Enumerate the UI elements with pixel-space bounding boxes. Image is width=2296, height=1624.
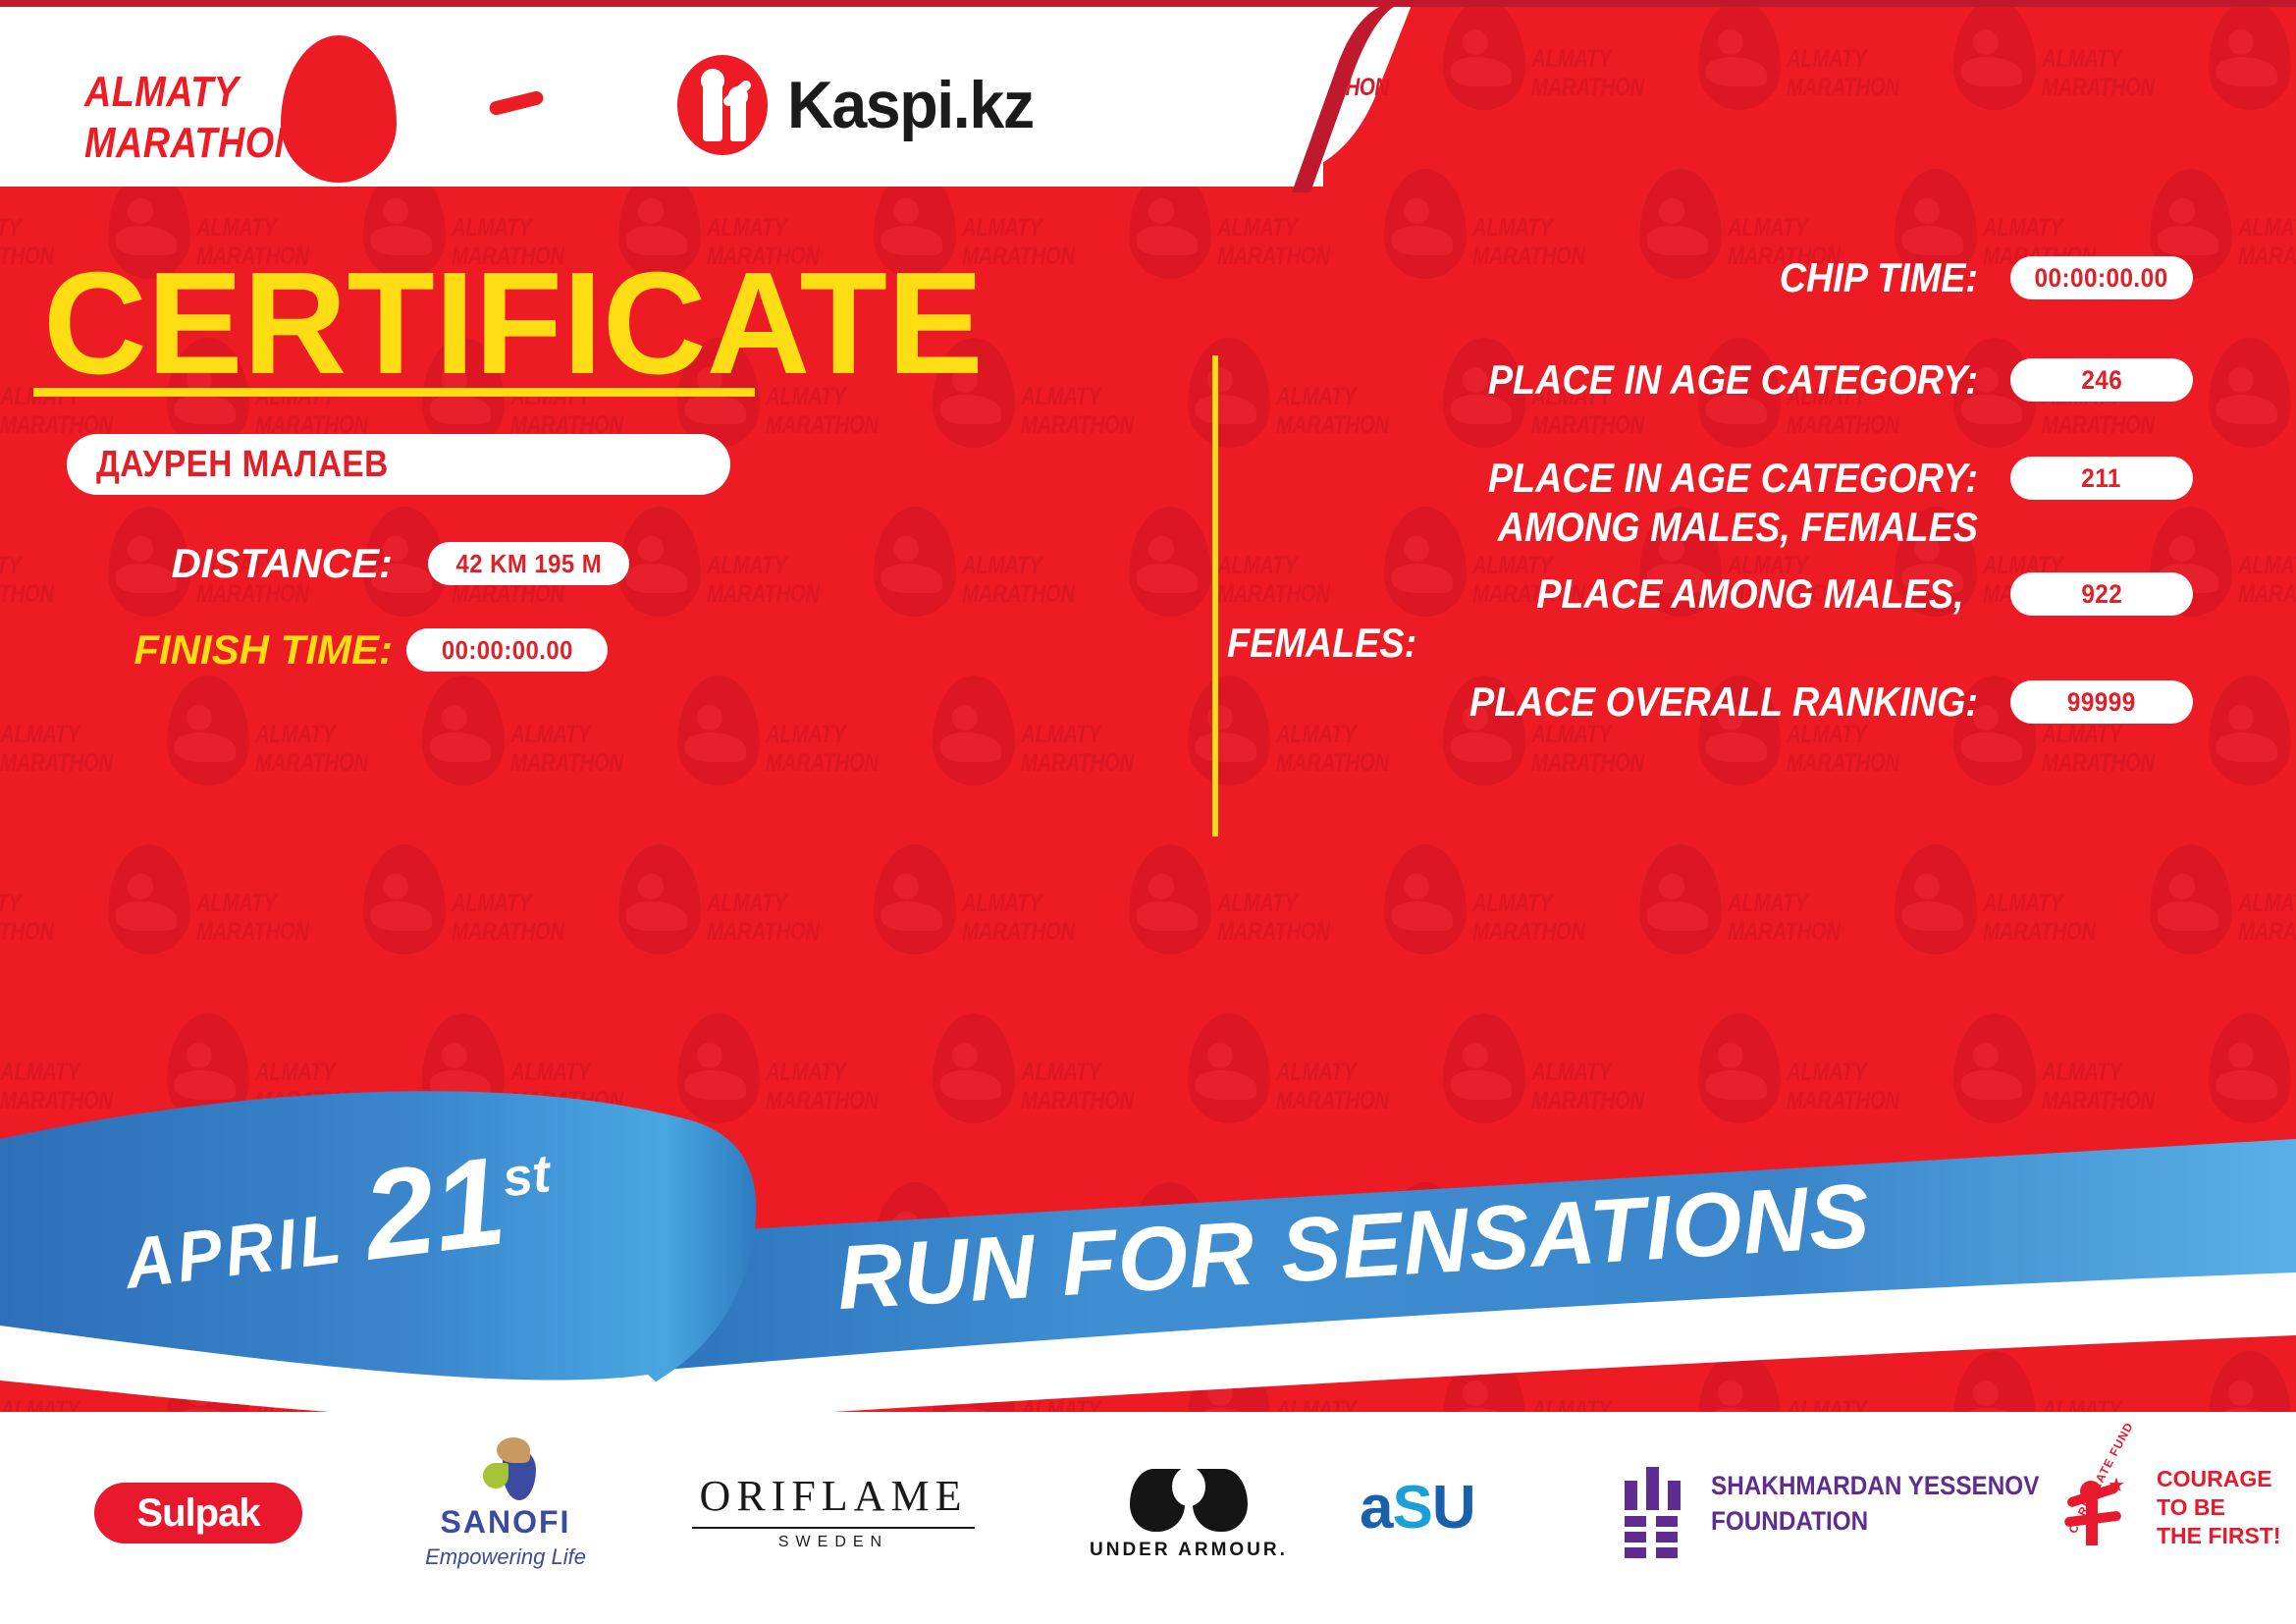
top-accent-line bbox=[0, 0, 2296, 7]
ua-center-gap bbox=[1172, 1467, 1205, 1506]
watermark-tile: ALMATYMARATHON bbox=[1728, 844, 1983, 1011]
page-title: CERTIFICATE bbox=[43, 250, 984, 398]
watermark-text: ALMATYMARATHON bbox=[510, 721, 623, 778]
watermark-text: ALMATYMARATHON bbox=[962, 552, 1075, 609]
watermark-drop-icon bbox=[2209, 0, 2291, 110]
place-overall-label: PLACE OVERALL RANKING: bbox=[1303, 677, 1979, 727]
place-among-gender-label-line2: FEMALES: bbox=[1227, 619, 1903, 668]
watermark-text: ALMATYMARATHON bbox=[1787, 45, 1899, 102]
watermark-drop-icon bbox=[677, 676, 760, 785]
sanofi-logo: SANOFI Empowering Life bbox=[412, 1437, 599, 1570]
sponsor-under-armour[interactable]: UNDER ARMOUR. bbox=[1090, 1469, 1288, 1561]
watermark-tile: ALMATYMARATHON bbox=[1217, 844, 1472, 1011]
watermark-tile: ALMATYMARATHON bbox=[196, 844, 452, 1011]
watermark-drop-icon bbox=[1129, 844, 1211, 954]
almaty-marathon-line2: MARATHON bbox=[84, 118, 301, 169]
place-among-gender-row: PLACE AMONG MALES, FEMALES: 922 bbox=[1227, 569, 2223, 668]
watermark-tile: ALMATYMARATHON bbox=[962, 507, 1217, 674]
sanofi-mark-icon bbox=[473, 1437, 538, 1500]
oriflame-logo: ORIFLAME SWEDEN bbox=[692, 1471, 975, 1551]
watermark-text: ALMATYMARATHON bbox=[2042, 45, 2155, 102]
chip-time-value-pill: 00:00:00.00 bbox=[2010, 256, 2193, 299]
watermark-text: ALMATYMARATHON bbox=[196, 890, 309, 947]
participant-name-field: ДАУРЕН МАЛАЕВ bbox=[67, 434, 730, 495]
asu-wordmark: aSU bbox=[1360, 1474, 1475, 1542]
sanofi-wordmark: SANOFI bbox=[412, 1504, 599, 1541]
courage-line2: TO BE bbox=[2157, 1493, 2281, 1522]
yessenov-foundation-mark-icon bbox=[1625, 1463, 1689, 1543]
watermark-tile: ALMATYMARATHON bbox=[0, 676, 255, 842]
chip-time-value: 00:00:00.00 bbox=[2035, 263, 2168, 294]
courage-line3: THE FIRST! bbox=[2157, 1522, 2281, 1550]
distance-row: DISTANCE: 42 KM 195 M bbox=[0, 540, 756, 587]
watermark-drop-icon bbox=[874, 844, 956, 954]
watermark-tile: ALMATYMARATHON bbox=[0, 844, 196, 1011]
watermark-text: ALMATYMARATHON bbox=[255, 721, 368, 778]
watermark-text: ALMATYMARATHON bbox=[1217, 890, 1330, 947]
distance-value: 42 KM 195 M bbox=[455, 549, 602, 579]
yessenov-foundation-logo: SHAKHMARDAN YESSENOV FOUNDATION bbox=[1625, 1463, 2076, 1543]
watermark-text: ALMATYMARATHON bbox=[452, 890, 564, 947]
sponsor-bar: Sulpak SANOFI Empowering Life ORIFLAME S… bbox=[0, 1412, 2296, 1624]
courage-runner-icon: CORPORATE FUND ★ bbox=[2037, 1453, 2145, 1561]
watermark-drop-icon bbox=[2150, 844, 2232, 954]
watermark-tile: ALMATYMARATHON bbox=[1472, 844, 1728, 1011]
header-curve bbox=[1109, 0, 1580, 196]
watermark-tile: ALMATYMARATHON bbox=[1983, 844, 2238, 1011]
place-age-category-gender-row: PLACE IN AGE CATEGORY: AMONG MALES, FEMA… bbox=[1227, 454, 2223, 552]
courage-line1: COURAGE bbox=[2157, 1465, 2281, 1493]
sponsor-sanofi[interactable]: SANOFI Empowering Life bbox=[412, 1437, 599, 1570]
watermark-text: ALMATYMARATHON bbox=[2238, 552, 2296, 609]
certificate-page: ALMATYMARATHONALMATYMARATHONALMATYMARATH… bbox=[0, 0, 2296, 1624]
column-divider bbox=[1212, 355, 1218, 837]
watermark-tile: ALMATYMARATHON bbox=[510, 676, 766, 842]
yessenov-foundation-line1: SHAKHMARDAN YESSENOV bbox=[1711, 1468, 2039, 1503]
place-among-gender-value: 922 bbox=[2081, 579, 2122, 610]
sanofi-tan-shape bbox=[497, 1437, 530, 1463]
watermark-drop-icon bbox=[363, 844, 446, 954]
place-age-category-gender-label-line1: PLACE IN AGE CATEGORY: bbox=[1303, 454, 1979, 503]
watermark-drop-icon bbox=[422, 676, 505, 785]
finish-time-value: 00:00:00.00 bbox=[441, 635, 572, 666]
watermark-tile: ALMATYMARATHON bbox=[962, 844, 1217, 1011]
watermark-tile: ALMATYMARATHON bbox=[452, 844, 707, 1011]
watermark-text: ALMATYMARATHON bbox=[2238, 214, 2296, 271]
sponsor-asu[interactable]: aSU bbox=[1360, 1473, 1475, 1543]
kaspi-people-icon bbox=[677, 55, 768, 155]
watermark-text: ALMATYMARATHON bbox=[1276, 721, 1389, 778]
distance-label: DISTANCE: bbox=[0, 540, 393, 587]
sulpak-wordmark: Sulpak bbox=[136, 1491, 259, 1536]
watermark-text: ALMATYMARATHON bbox=[962, 890, 1075, 947]
place-among-gender-label-line1: PLACE AMONG MALES, bbox=[1288, 569, 1964, 619]
watermark-text: ALMATYMARATHON bbox=[1787, 721, 1899, 778]
under-armour-wordmark: UNDER ARMOUR. bbox=[1090, 1540, 1288, 1561]
event-day-suffix: st bbox=[500, 1143, 554, 1209]
watermark-text: ALMATYMARATHON bbox=[0, 890, 54, 947]
place-among-gender-value-pill: 922 bbox=[2010, 572, 2193, 616]
title-underline bbox=[33, 388, 755, 397]
oriflame-divider bbox=[692, 1527, 975, 1529]
watermark-tile: ALMATYMARATHON bbox=[255, 676, 510, 842]
watermark-drop-icon bbox=[1384, 844, 1467, 954]
sponsor-sulpak[interactable]: Sulpak bbox=[94, 1483, 302, 1543]
courage-star-icon: ★ bbox=[2108, 1473, 2125, 1497]
watermark-text: ALMATYMARATHON bbox=[2238, 890, 2296, 947]
finish-time-label: FINISH TIME: bbox=[0, 626, 393, 674]
watermark-tile: ALMATYMARATHON bbox=[707, 844, 962, 1011]
oriflame-wordmark: ORIFLAME bbox=[692, 1471, 975, 1521]
participant-name-value: ДАУРЕН МАЛАЕВ bbox=[96, 444, 389, 486]
under-armour-mark-icon bbox=[1130, 1469, 1248, 1534]
place-overall-row: PLACE OVERALL RANKING: 99999 bbox=[1227, 677, 2223, 727]
watermark-tile: ALMATYMARATHON bbox=[2238, 169, 2296, 336]
watermark-text: ALMATYMARATHON bbox=[1531, 721, 1644, 778]
watermark-tile: ALMATYMARATHON bbox=[2042, 0, 2296, 167]
almaty-marathon-wordmark: ALMATY MARATHON bbox=[84, 67, 301, 169]
sponsor-courage-fund[interactable]: CORPORATE FUND ★ COURAGE TO BE THE FIRST… bbox=[2037, 1453, 2281, 1561]
watermark-text: ALMATYMARATHON bbox=[1472, 890, 1585, 947]
watermark-drop-icon bbox=[618, 844, 701, 954]
watermark-tile: ALMATYMARATHON bbox=[1728, 169, 1983, 336]
place-age-category-value: 246 bbox=[2081, 365, 2122, 396]
watermark-drop-icon bbox=[167, 676, 249, 785]
distance-value-pill: 42 KM 195 M bbox=[428, 542, 629, 585]
chip-time-row: CHIP TIME: 00:00:00.00 bbox=[1227, 253, 2223, 302]
watermark-tile: ALMATYMARATHON bbox=[2238, 844, 2296, 1011]
kaspi-wordmark: Kaspi.kz bbox=[787, 67, 1034, 143]
place-age-category-row: PLACE IN AGE CATEGORY: 246 bbox=[1227, 355, 2223, 405]
watermark-tile: ALMATYMARATHON bbox=[1787, 0, 2042, 167]
watermark-text: ALMATYMARATHON bbox=[0, 721, 113, 778]
watermark-text: ALMATYMARATHON bbox=[707, 890, 820, 947]
watermark-text: ALMATYMARATHON bbox=[1728, 890, 1841, 947]
yessenov-foundation-line2: FOUNDATION bbox=[1711, 1503, 2039, 1539]
watermark-drop-icon bbox=[1953, 0, 2036, 110]
asu-logo: aSU bbox=[1360, 1473, 1475, 1543]
watermark-drop-icon bbox=[933, 676, 1015, 785]
place-age-category-gender-label-line2: AMONG MALES, FEMALES bbox=[1303, 503, 1979, 552]
watermark-drop-icon bbox=[874, 507, 956, 617]
event-day: 21 bbox=[358, 1143, 511, 1274]
almaty-marathon-logo: ALMATY MARATHON bbox=[84, 45, 379, 159]
sulpak-logo: Sulpak bbox=[94, 1483, 302, 1543]
almaty-marathon-line1: ALMATY bbox=[84, 67, 301, 118]
watermark-tile: ALMATYMARATHON bbox=[2238, 507, 2296, 674]
watermark-text: ALMATYMARATHON bbox=[766, 721, 879, 778]
oriflame-tagline: SWEDEN bbox=[692, 1534, 975, 1551]
watermark-text: ALMATYMARATHON bbox=[1021, 721, 1134, 778]
finish-time-value-pill: 00:00:00.00 bbox=[406, 628, 608, 672]
finish-time-row: FINISH TIME: 00:00:00.00 bbox=[0, 626, 756, 674]
sanofi-green-shape bbox=[483, 1463, 508, 1489]
place-age-category-gender-value: 211 bbox=[2082, 463, 2122, 494]
place-age-category-gender-value-pill: 211 bbox=[2010, 457, 2193, 500]
watermark-tile: ALMATYMARATHON bbox=[1983, 169, 2238, 336]
under-armour-logo: UNDER ARMOUR. bbox=[1090, 1469, 1288, 1561]
sponsor-oriflame[interactable]: ORIFLAME SWEDEN bbox=[692, 1471, 975, 1551]
place-overall-value-pill: 99999 bbox=[2010, 680, 2193, 724]
watermark-text: ALMATYMARATHON bbox=[2042, 721, 2155, 778]
place-age-category-value-pill: 246 bbox=[2010, 358, 2193, 402]
watermark-text: ALMATYMARATHON bbox=[1021, 383, 1134, 440]
sponsor-yessenov-foundation[interactable]: SHAKHMARDAN YESSENOV FOUNDATION bbox=[1625, 1463, 2076, 1543]
watermark-drop-icon bbox=[108, 844, 190, 954]
watermark-tile: ALMATYMARATHON bbox=[766, 676, 1021, 842]
watermark-drop-icon bbox=[1639, 844, 1722, 954]
watermark-drop-icon bbox=[1895, 844, 1977, 954]
watermark-drop-icon bbox=[1698, 0, 1781, 110]
chip-time-label: CHIP TIME: bbox=[1303, 253, 1979, 302]
sanofi-tagline: Empowering Life bbox=[412, 1544, 599, 1570]
kaspi-figure-large-head bbox=[701, 69, 724, 92]
place-age-category-label: PLACE IN AGE CATEGORY: bbox=[1303, 355, 1979, 405]
watermark-drop-icon bbox=[1129, 507, 1211, 617]
place-overall-value: 99999 bbox=[2067, 687, 2136, 718]
courage-to-be-first-logo: CORPORATE FUND ★ COURAGE TO BE THE FIRST… bbox=[2037, 1453, 2281, 1561]
watermark-text: ALMATYMARATHON bbox=[1983, 890, 2096, 947]
